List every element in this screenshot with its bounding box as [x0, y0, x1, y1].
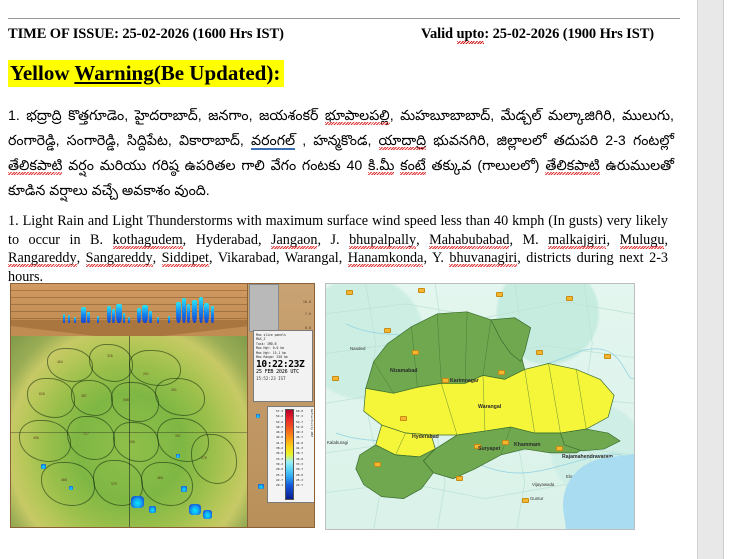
map-label-nanded: Nanded [350, 346, 365, 351]
page-title: Yellow Warning(Be Updated): [8, 60, 284, 87]
radar-figure: 404 326 251 626 387 508 281 490 717 430 … [10, 283, 315, 528]
en-seg2: , Hyderabad, [183, 232, 271, 248]
te-number: 1. [8, 108, 26, 124]
en-seg10: , Vikarabad, Warangal, [209, 250, 348, 266]
te-sq2: వరంగల్ [251, 133, 295, 149]
english-warning-paragraph: 1. Light Rain and Light Thunderstorms wi… [8, 212, 668, 286]
te-line5: వర్షం మరియు గరిష్ఠ ఉపరితల గాలి వేగం గంటక… [62, 158, 368, 174]
time-of-issue: TIME OF ISSUE: 25-02-2026 (1600 Hrs IST) [8, 26, 284, 43]
title-part-yellow: Yellow [10, 61, 74, 85]
colorbar-right-labels: 60.0 57.3 54.7 52.0 49.3 46.7 44.0 41.3 … [296, 409, 309, 500]
radar-date-utc: 25 FEB 2026 UTC [256, 370, 310, 374]
en-seg7: , [664, 232, 668, 248]
title-part-warning: Warning [74, 61, 153, 85]
colorbar-gradient [285, 409, 294, 500]
radar-reflectivity-colorbar: 57.3 54.2 52.0 49.3 46.0 44.0 41.5 38.2 … [267, 406, 315, 503]
en-number: 1. [8, 213, 23, 229]
map-label-suryapet: Suryapet [478, 446, 500, 452]
en-sq11: bhuvanagiri [449, 250, 517, 266]
district-warning-map: Nizamabad Karimnagar Hyderabad Warangal … [325, 283, 635, 530]
colorbar-title: Reflectivity dBZ [310, 409, 314, 500]
te-line3: , హన్మకొండ, [295, 133, 378, 149]
te-sq3: యాదాద్రి [379, 133, 427, 149]
valid-upto: Valid upto: 25-02-2026 (1900 Hrs IST) [421, 26, 676, 43]
en-sq1: kothagudem [113, 232, 183, 248]
radar-echo-column-layer [11, 284, 249, 336]
en-sq2: Jangaon [271, 232, 318, 248]
map-label-nizamabad: Nizamabad [390, 368, 417, 374]
en-sq6: Mulugu [620, 232, 665, 248]
en-sq10: Hanamkonda [348, 250, 424, 266]
valid-upto-misspelled: upto [457, 26, 485, 42]
valid-prefix: Valid [421, 26, 457, 42]
map-label-khammam: Khammam [514, 442, 541, 448]
map-label-hyderabad: Hyderabad [412, 434, 439, 440]
map-label-warangal: Warangal [478, 404, 501, 410]
document-page: TIME OF ISSUE: 25-02-2026 (1600 Hrs IST)… [0, 0, 692, 559]
te-sq1: భూపాలపల్లి [325, 108, 390, 124]
cb-l14: 20.1 [270, 483, 283, 488]
cb-r14: 22.7 [296, 483, 309, 488]
te-line1: భద్రాద్రి కొత్తగూడెం, హైదరాబాద్, జనగాం, … [26, 108, 325, 124]
bulletin-header: TIME OF ISSUE: 25-02-2026 (1600 Hrs IST)… [8, 26, 676, 43]
title-part-suffix: (Be Updated): [154, 61, 281, 85]
te-sq7: తేలికపాటి [545, 158, 599, 174]
en-seg5: , M. [509, 232, 548, 248]
radar-plan-view: 404 326 251 626 387 508 281 490 717 430 … [11, 336, 249, 528]
map-label-kalaburagi: Kalaburagi [327, 440, 348, 445]
te-line4: భువనగిరి, జిల్లాలలో తదుపరి 2-3 గంటల్లో [426, 133, 674, 149]
radar-product-panel [249, 284, 279, 332]
radar-info-box: Max slice panels MAX_Z Task: IMD-B Max H… [253, 330, 313, 402]
en-sq4: Mahabubabad [429, 232, 509, 248]
colorbar-left-labels: 57.3 54.2 52.0 49.3 46.0 44.0 41.5 38.2 … [270, 409, 283, 500]
en-seg11: , Y. [423, 250, 449, 266]
en-sq5: malkajgiri [548, 232, 606, 248]
page-scroll-gutter [692, 0, 745, 559]
en-seg3: , J. [317, 232, 349, 248]
radar-timestamp-ist: 15:52:23 IST [256, 377, 310, 381]
en-seg4: , [416, 232, 429, 248]
en-sq7: Rangareddy [8, 250, 77, 266]
en-seg8: , [77, 250, 86, 266]
valid-suffix: : 25-02-2026 (1900 Hrs IST) [484, 26, 654, 42]
te-sq4: తేలికపాటి [8, 158, 62, 174]
te-sq5: కి.మీ [368, 158, 394, 174]
header-divider [8, 18, 680, 19]
map-label-karimnagar: Karimnagar [450, 378, 479, 384]
scrollbar-track[interactable] [697, 0, 724, 559]
en-sq8: Sangareddy [86, 250, 153, 266]
te-line7: తక్కువ (గాలులలో) [426, 158, 546, 174]
en-sq3: bhupalpally [349, 232, 416, 248]
en-seg6: , [606, 232, 619, 248]
te-sq6: కంటే [400, 158, 426, 174]
telugu-warning-paragraph: 1. భద్రాద్రి కొత్తగూడెం, హైదరాబాద్, జనగా… [8, 104, 674, 204]
en-sq9: Siddipet [162, 250, 209, 266]
map-label-guntur: Guntur [530, 496, 543, 501]
map-label-vijayawada: Vijayawada [532, 482, 554, 487]
en-seg9: , [153, 250, 162, 266]
